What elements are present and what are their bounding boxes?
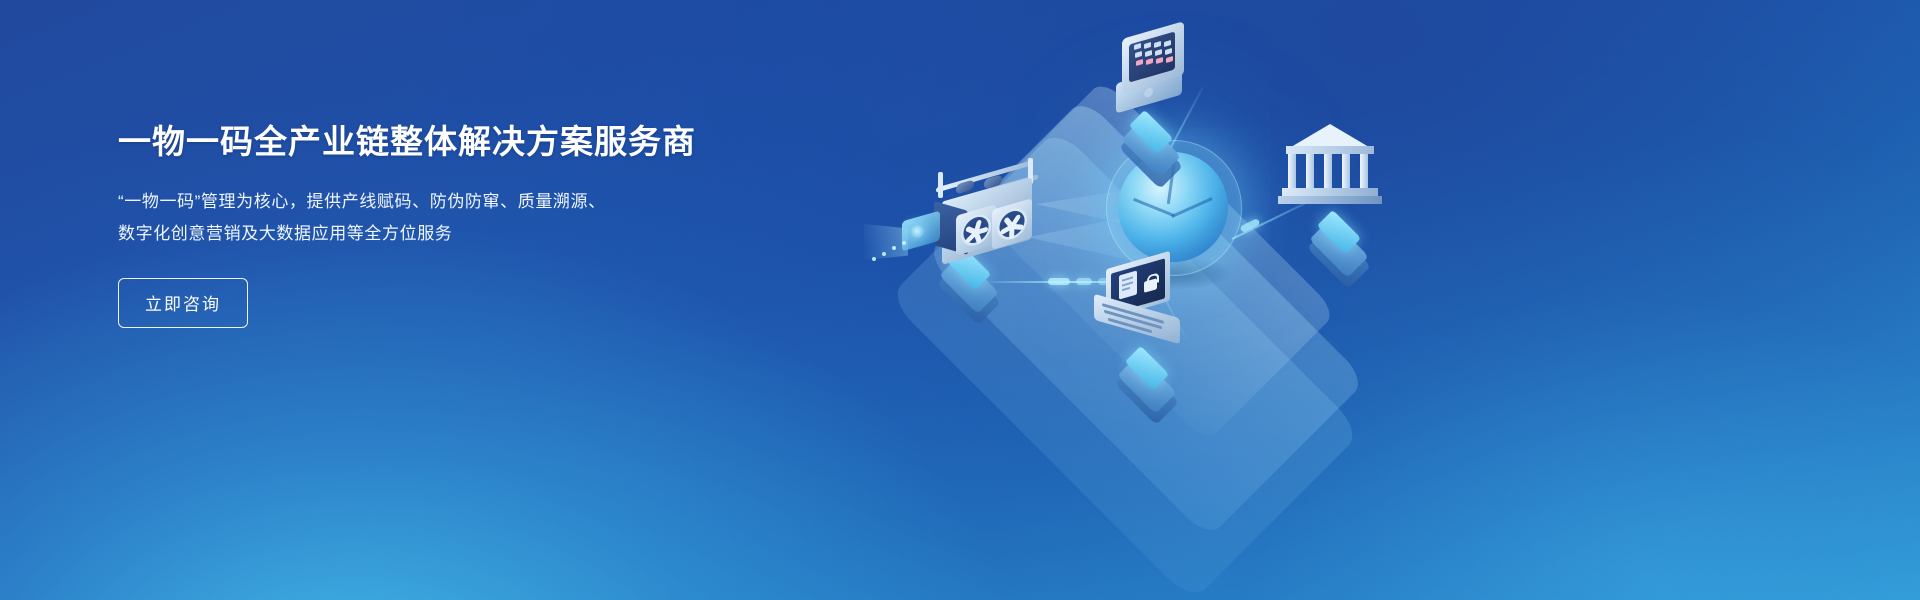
cta-wrapper: 立即咨询 — [118, 278, 818, 328]
fan-hub — [961, 211, 991, 250]
hero-copy-block: 一物一码全产业链整体解决方案服务商 “一物一码”管理为核心，提供产线赋码、防伪防… — [118, 120, 818, 328]
bank-column — [1342, 154, 1350, 188]
laptop-lock-icon — [1086, 256, 1206, 354]
fan-hub — [997, 205, 1027, 244]
subtitle-line-1: “一物一码”管理为核心，提供产线赋码、防伪防窜、质量溯源、 — [118, 186, 818, 218]
bank-column — [1324, 154, 1332, 188]
spray-particle — [892, 246, 896, 250]
pos-terminal-icon — [1108, 22, 1198, 118]
server-rack-icon — [900, 160, 1090, 280]
bank-column — [1306, 154, 1314, 188]
consult-now-button[interactable]: 立即咨询 — [118, 278, 248, 328]
bank-column — [1360, 154, 1368, 188]
page-title: 一物一码全产业链整体解决方案服务商 — [118, 120, 818, 164]
rack-post — [938, 172, 943, 198]
scanner-lens-icon — [910, 224, 924, 238]
subtitle-line-2: 数字化创意营销及大数据应用等全方位服务 — [118, 218, 818, 250]
bank-base-shadow — [1278, 196, 1382, 204]
spray-particle — [872, 257, 876, 261]
hero-illustration — [840, 0, 1920, 600]
bank-entablature — [1286, 146, 1374, 154]
spray-particle — [902, 241, 906, 245]
bank-column — [1288, 154, 1296, 188]
spray-particle — [882, 252, 886, 256]
bank-building-icon — [1268, 122, 1388, 218]
hero-banner: 一物一码全产业链整体解决方案服务商 “一物一码”管理为核心，提供产线赋码、防伪防… — [0, 0, 1920, 600]
